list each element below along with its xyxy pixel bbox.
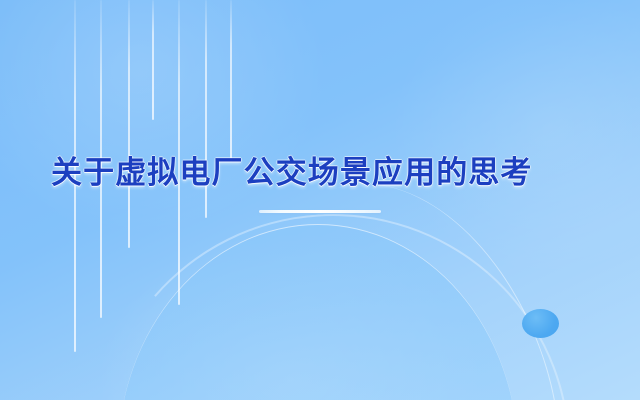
slide-canvas: 关于虚拟电厂公交场景应用的思考 (0, 0, 640, 400)
decorative-line-7 (230, 0, 232, 162)
background-glow-bottom (30, 180, 550, 400)
decorative-arc-outer (80, 198, 586, 400)
decorative-line-4 (152, 0, 154, 120)
decorative-dome-edge (118, 224, 518, 400)
page-title: 关于虚拟电厂公交场景应用的思考 (51, 147, 533, 192)
decorative-line-3 (128, 0, 130, 248)
decorative-vertical-lines (0, 0, 640, 400)
decorative-accent-circle (522, 309, 559, 338)
decorative-dome-shape (118, 224, 518, 400)
title-divider (259, 210, 381, 213)
